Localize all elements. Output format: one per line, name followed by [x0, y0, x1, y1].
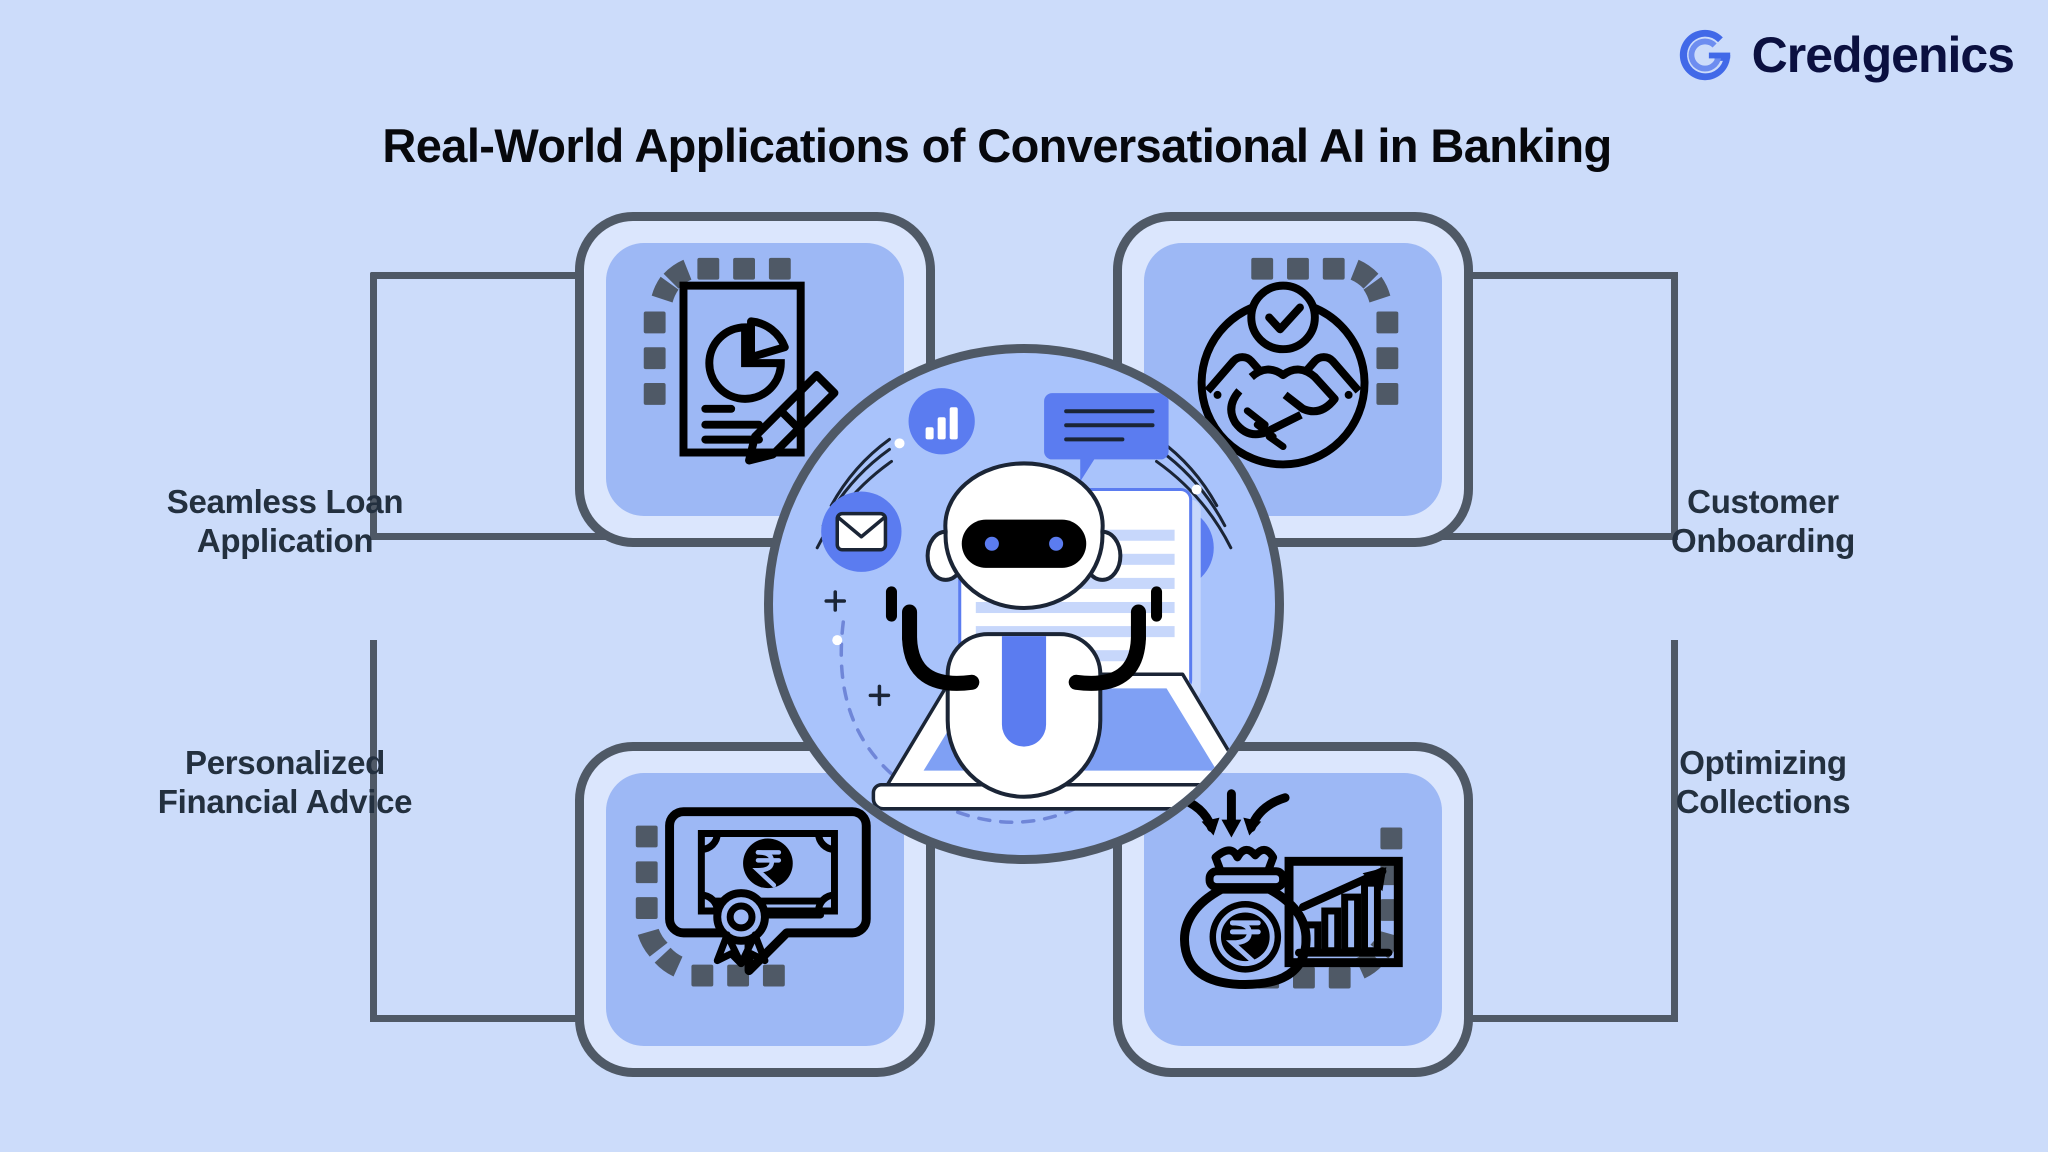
card-inner-panel — [1144, 773, 1442, 1046]
label-line-1: Customer — [1598, 483, 1928, 522]
envelope-badge-icon — [821, 492, 901, 572]
label-line-1: Personalized — [120, 744, 450, 783]
label-line-2: Application — [120, 522, 450, 561]
infographic-canvas: Credgenics Real-World Applications of Co… — [0, 0, 2048, 1152]
chat-bubble-icon — [1044, 393, 1168, 481]
label-seamless-loan-application: Seamless Loan Application — [120, 483, 450, 561]
label-line-2: Financial Advice — [120, 783, 450, 822]
chatbot-robot-on-laptop-illustration: ? — [773, 353, 1275, 855]
credgenics-g-logo-icon — [1674, 24, 1736, 86]
bar-chart-badge-icon — [909, 388, 975, 454]
label-line-1: Optimizing — [1598, 744, 1928, 783]
card-inner-panel — [606, 773, 904, 1046]
label-line-2: Collections — [1598, 783, 1928, 822]
icon-wrap — [606, 773, 904, 1046]
rupee-money-bag-growth-chart-icon — [1144, 773, 1442, 1046]
label-line-2: Onboarding — [1598, 522, 1928, 561]
rupee-certificate-speech-bubble-icon — [606, 773, 904, 1046]
label-customer-onboarding: Customer Onboarding — [1598, 483, 1928, 561]
label-optimizing-collections: Optimizing Collections — [1598, 744, 1928, 822]
dot-icon — [1192, 485, 1202, 495]
label-personalized-financial-advice: Personalized Financial Advice — [120, 744, 450, 822]
icon-wrap — [1144, 773, 1442, 1046]
page-title: Real-World Applications of Conversationa… — [0, 118, 2021, 173]
center-hub-chatbot-illustration: ? — [764, 344, 1284, 864]
brand-logo: Credgenics — [1674, 24, 2014, 86]
robot-body-icon — [948, 634, 1101, 797]
dot-icon — [894, 438, 904, 448]
label-line-1: Seamless Loan — [120, 483, 450, 522]
brand-name: Credgenics — [1752, 30, 2014, 80]
dot-icon — [832, 635, 842, 645]
